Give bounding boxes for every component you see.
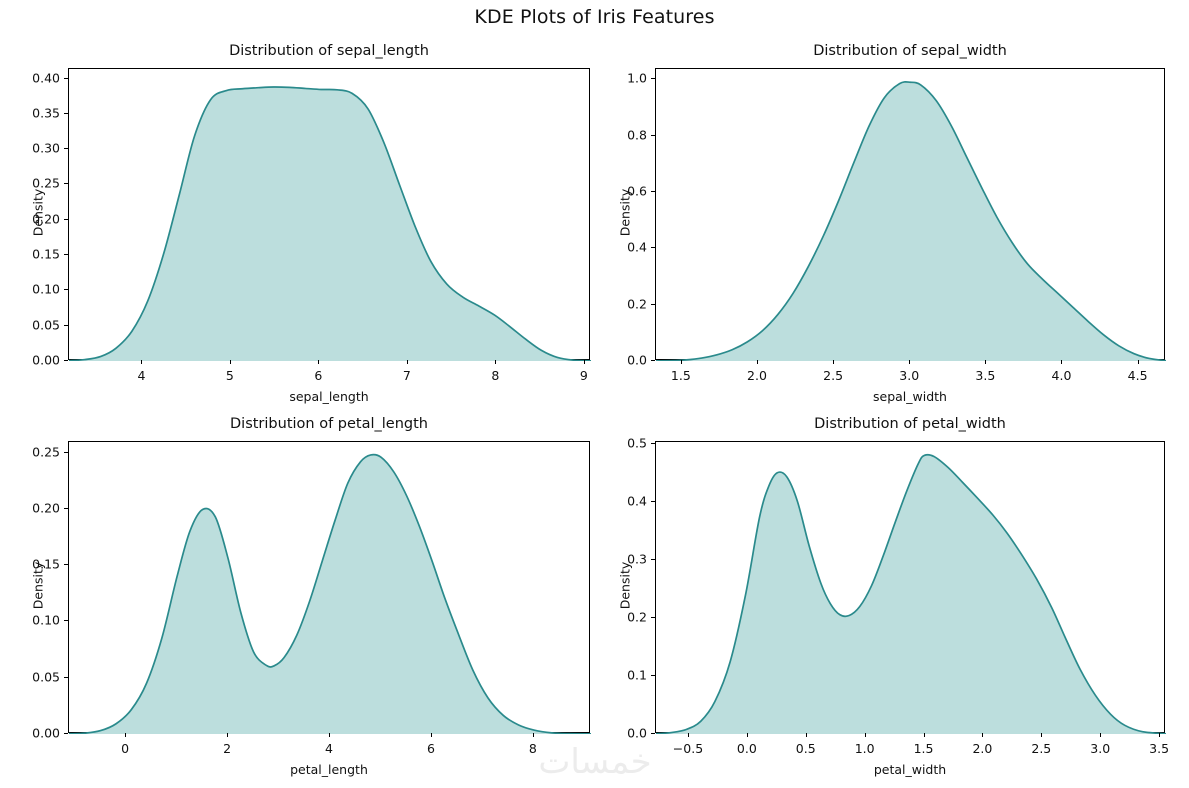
x-tick-label: 2.0 [747, 368, 767, 383]
x-tick-label: 2 [223, 741, 231, 756]
plot-area [655, 68, 1165, 360]
x-tick-mark [806, 733, 807, 737]
kde-fill-area [656, 82, 1166, 361]
x-tick-label: 0 [121, 741, 129, 756]
x-tick-mark [329, 733, 330, 737]
panel-title: Distribution of sepal_width [655, 43, 1165, 59]
y-tick-mark [651, 247, 655, 248]
x-tick-mark [1061, 360, 1062, 364]
x-tick-mark [407, 360, 408, 364]
kde-fill-area [69, 87, 591, 361]
figure-canvas: KDE Plots of Iris Features Distribution … [0, 0, 1189, 788]
kde-fill-area [69, 455, 591, 734]
y-axis-label: Density [618, 440, 633, 732]
y-tick-mark [64, 360, 68, 361]
x-tick-label: 0.5 [796, 741, 816, 756]
y-tick-mark [64, 78, 68, 79]
y-tick-mark [64, 452, 68, 453]
y-tick-mark [651, 360, 655, 361]
kde-curve-svg [69, 69, 591, 361]
x-tick-mark [1138, 360, 1139, 364]
y-tick-mark [64, 620, 68, 621]
kde-curve-svg [69, 442, 591, 734]
y-tick-mark [651, 617, 655, 618]
x-tick-mark [141, 360, 142, 364]
x-tick-label: 1.5 [914, 741, 934, 756]
y-tick-mark [64, 219, 68, 220]
x-tick-label: 4.0 [1052, 368, 1072, 383]
x-tick-mark [924, 733, 925, 737]
y-tick-mark [651, 135, 655, 136]
x-tick-mark [227, 733, 228, 737]
x-tick-mark [1159, 733, 1160, 737]
x-tick-label: 4.5 [1128, 368, 1148, 383]
x-tick-mark [125, 733, 126, 737]
x-tick-label: 0.0 [737, 741, 757, 756]
kde-fill-area [656, 455, 1166, 734]
panel-title: Distribution of petal_length [68, 416, 590, 432]
sepal-width-panel: Distribution of sepal_width1.52.02.53.03… [655, 68, 1165, 360]
x-tick-mark [533, 733, 534, 737]
x-axis-label: sepal_width [655, 389, 1165, 404]
x-tick-mark [982, 733, 983, 737]
x-tick-mark [985, 360, 986, 364]
x-tick-label: 3.0 [899, 368, 919, 383]
x-tick-mark [757, 360, 758, 364]
y-tick-mark [64, 289, 68, 290]
sepal-length-panel: Distribution of sepal_length4567890.000.… [68, 68, 590, 360]
x-tick-mark [688, 733, 689, 737]
x-tick-label: 6 [314, 368, 322, 383]
x-axis-label: sepal_length [68, 389, 590, 404]
x-tick-mark [230, 360, 231, 364]
kde-curve-svg [656, 69, 1166, 361]
x-tick-label: 3.5 [975, 368, 995, 383]
plot-area [68, 441, 590, 733]
x-tick-label: 2.5 [1031, 741, 1051, 756]
y-tick-mark [651, 559, 655, 560]
x-tick-label: 8 [491, 368, 499, 383]
x-tick-mark [909, 360, 910, 364]
y-tick-mark [651, 78, 655, 79]
x-tick-mark [865, 733, 866, 737]
y-tick-mark [64, 254, 68, 255]
x-tick-label: 9 [580, 368, 588, 383]
kde-curve-svg [656, 442, 1166, 734]
x-tick-label: 2.5 [823, 368, 843, 383]
x-tick-mark [747, 733, 748, 737]
x-tick-mark [1041, 733, 1042, 737]
plot-area [68, 68, 590, 360]
y-axis-label: Density [31, 440, 46, 732]
panel-title: Distribution of petal_width [655, 416, 1165, 432]
y-tick-mark [651, 675, 655, 676]
y-tick-mark [64, 113, 68, 114]
y-tick-mark [651, 733, 655, 734]
x-tick-mark [431, 733, 432, 737]
x-tick-mark [318, 360, 319, 364]
figure-suptitle: KDE Plots of Iris Features [0, 6, 1189, 28]
x-tick-mark [495, 360, 496, 364]
x-tick-mark [1100, 733, 1101, 737]
y-tick-mark [651, 304, 655, 305]
petal-length-panel: Distribution of petal_length024680.000.0… [68, 441, 590, 733]
y-tick-mark [64, 733, 68, 734]
watermark-text: خمسات [455, 742, 735, 782]
x-tick-label: 1.5 [671, 368, 691, 383]
plot-area [655, 441, 1165, 733]
y-axis-label: Density [618, 67, 633, 359]
y-tick-mark [651, 191, 655, 192]
x-tick-label: 2.0 [972, 741, 992, 756]
x-tick-label: 3.0 [1090, 741, 1110, 756]
y-tick-mark [651, 443, 655, 444]
y-tick-mark [64, 564, 68, 565]
y-axis-label: Density [31, 67, 46, 359]
y-tick-mark [64, 148, 68, 149]
x-tick-mark [833, 360, 834, 364]
y-tick-mark [64, 508, 68, 509]
y-tick-mark [64, 183, 68, 184]
x-tick-label: 1.0 [855, 741, 875, 756]
y-tick-mark [64, 325, 68, 326]
panel-title: Distribution of sepal_length [68, 43, 590, 59]
y-tick-mark [64, 677, 68, 678]
x-tick-label: 4 [137, 368, 145, 383]
x-tick-label: 6 [427, 741, 435, 756]
petal-width-panel: Distribution of petal_width−0.50.00.51.0… [655, 441, 1165, 733]
x-tick-label: 7 [403, 368, 411, 383]
y-tick-mark [651, 501, 655, 502]
x-tick-label: 4 [325, 741, 333, 756]
x-tick-mark [584, 360, 585, 364]
x-tick-label: 5 [226, 368, 234, 383]
x-tick-label: 3.5 [1149, 741, 1169, 756]
x-tick-mark [681, 360, 682, 364]
